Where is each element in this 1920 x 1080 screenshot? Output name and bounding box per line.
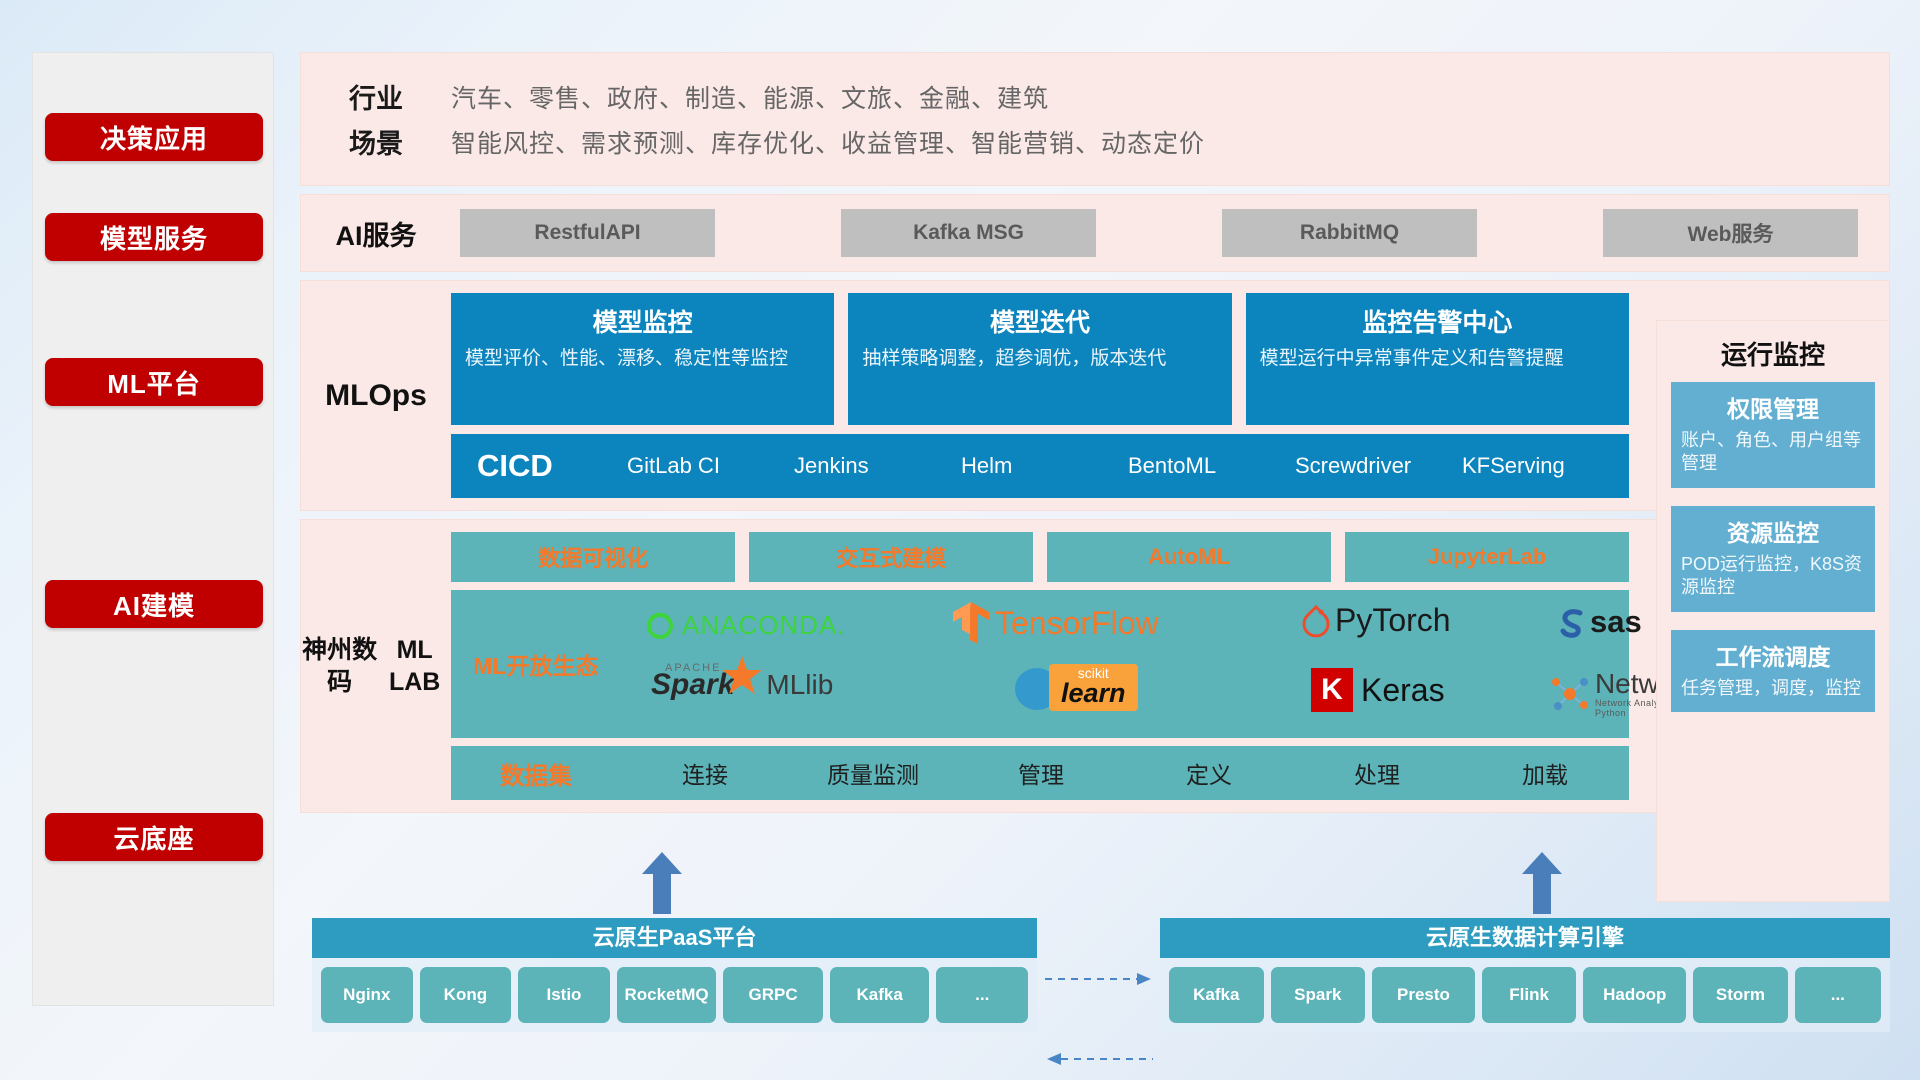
paas-platform-box: 云原生PaaS平台 Nginx Kong Istio RocketMQ GRPC… — [312, 918, 1037, 1032]
sas-logo: sas — [1556, 604, 1642, 640]
tool-automl[interactable]: AutoML — [1047, 532, 1331, 582]
dataset-items: 连接 质量监测 管理 定义 处理 加载 — [621, 756, 1629, 790]
spark-mllib-logo: APACHE Spark MLlib — [651, 668, 833, 702]
mlops-card-alert-center[interactable]: 监控告警中心 模型运行中异常事件定义和告警提醒 — [1246, 293, 1629, 425]
keras-logo: K Keras — [1311, 668, 1445, 712]
cicd-item-bentoml[interactable]: BentoML — [1128, 455, 1295, 477]
dataset-item-process[interactable]: 处理 — [1293, 756, 1461, 790]
card-desc: 模型评价、性能、漂移、稳定性等监控 — [465, 346, 820, 371]
rail-label: 云底座 — [113, 819, 194, 856]
dashed-arrow-right-icon — [1045, 972, 1153, 986]
mlops-label: MLOps — [301, 293, 451, 498]
engine-chips: Kafka Spark Presto Flink Hadoop Storm ..… — [1160, 958, 1890, 1032]
dataset-label: 数据集 — [451, 756, 621, 791]
monitor-card-desc: 任务管理，调度，监控 — [1681, 677, 1865, 700]
engine-chip-hadoop[interactable]: Hadoop — [1583, 967, 1686, 1023]
paas-chips: Nginx Kong Istio RocketMQ GRPC Kafka ... — [312, 958, 1037, 1032]
paas-chip-more[interactable]: ... — [936, 967, 1028, 1023]
arrow-up-engine-icon — [1520, 852, 1564, 914]
mlops-card-model-iteration[interactable]: 模型迭代 抽样策略调整，超参调优，版本迭代 — [848, 293, 1231, 425]
engine-chip-more[interactable]: ... — [1795, 967, 1881, 1023]
industry-key: 行业 — [301, 77, 451, 116]
mlops-band: MLOps 模型监控 模型评价、性能、漂移、稳定性等监控 模型迭代 抽样策略调整… — [300, 280, 1890, 511]
card-desc: 模型运行中异常事件定义和告警提醒 — [1260, 346, 1615, 371]
dataset-item-connect[interactable]: 连接 — [621, 756, 789, 790]
rail-item-ai-modeling[interactable]: AI建模 — [45, 580, 263, 628]
runtime-monitor-panel: 运行监控 权限管理 账户、角色、用户组等管理 资源监控 POD运行监控，K8S资… — [1656, 320, 1890, 902]
rail-item-cloud-base[interactable]: 云底座 — [45, 813, 263, 861]
paas-chip-grpc[interactable]: GRPC — [723, 967, 823, 1023]
rail-label: 决策应用 — [100, 119, 208, 156]
cloud-foundation-row: 云原生PaaS平台 Nginx Kong Istio RocketMQ GRPC… — [300, 900, 1890, 1020]
mlops-body: 模型监控 模型评价、性能、漂移、稳定性等监控 模型迭代 抽样策略调整，超参调优，… — [451, 293, 1643, 498]
monitor-card-title: 权限管理 — [1681, 390, 1865, 424]
cicd-item-helm[interactable]: Helm — [961, 455, 1128, 477]
ml-lab-label: 神州数码 ML LAB — [301, 532, 451, 800]
scikit-learn-logo: scikit learn — [1011, 662, 1138, 712]
cicd-item-jenkins[interactable]: Jenkins — [794, 455, 961, 477]
arrow-up-paas-icon — [640, 852, 684, 914]
paas-chip-rocketmq[interactable]: RocketMQ — [617, 967, 717, 1023]
dataset-item-define[interactable]: 定义 — [1125, 756, 1293, 790]
keras-text: Keras — [1361, 672, 1445, 709]
sas-icon — [1556, 606, 1588, 638]
dataset-item-manage[interactable]: 管理 — [957, 756, 1125, 790]
monitor-card-desc: POD运行监控，K8S资源监控 — [1681, 553, 1865, 600]
ml-lab-band: 神州数码 ML LAB 数据可视化 交互式建模 AutoML JupyterLa… — [300, 519, 1890, 813]
card-title: 监控告警中心 — [1260, 303, 1615, 339]
rail-label: AI建模 — [113, 586, 195, 623]
rail-label: ML平台 — [107, 364, 201, 401]
scenario-value: 智能风控、需求预测、库存优化、收益管理、智能营销、动态定价 — [451, 124, 1205, 160]
monitor-card-title: 资源监控 — [1681, 514, 1865, 548]
ml-lab-tools: 数据可视化 交互式建模 AutoML JupyterLab — [451, 532, 1629, 582]
mllib-text: MLlib — [766, 669, 833, 701]
engine-title: 云原生数据计算引擎 — [1160, 918, 1890, 958]
cicd-label: CICD — [477, 448, 627, 484]
anaconda-icon — [643, 608, 677, 642]
cicd-item-gitlab-ci[interactable]: GitLab CI — [627, 455, 794, 477]
card-title: 模型监控 — [465, 303, 820, 339]
pytorch-text: PyTorch — [1335, 602, 1451, 639]
scenario-row: 场景 智能风控、需求预测、库存优化、收益管理、智能营销、动态定价 — [301, 122, 1889, 161]
learn-text: learn — [1061, 680, 1126, 707]
spark-apache-text: APACHE — [665, 662, 721, 674]
engine-chip-flink[interactable]: Flink — [1482, 967, 1577, 1023]
ml-open-ecosystem: ML开放生态 ANACONDA. — [451, 590, 1629, 738]
monitor-card-desc: 账户、角色、用户组等管理 — [1681, 429, 1865, 476]
paas-chip-kong[interactable]: Kong — [420, 967, 512, 1023]
service-restful-api[interactable]: RestfulAPI — [460, 209, 715, 257]
ml-lab-label-line1: 神州数码 — [301, 634, 378, 699]
paas-chip-nginx[interactable]: Nginx — [321, 967, 413, 1023]
architecture-diagram: 决策应用 模型服务 ML平台 AI建模 云底座 行业 汽车、零售、政府、制造、能… — [0, 0, 1920, 1080]
scenario-key: 场景 — [301, 122, 451, 161]
rail-label: 模型服务 — [100, 219, 208, 256]
paas-chip-kafka[interactable]: Kafka — [830, 967, 930, 1023]
card-title: 模型迭代 — [862, 303, 1217, 339]
networkx-icon — [1546, 672, 1592, 716]
card-desc: 抽样策略调整，超参调优，版本迭代 — [862, 346, 1217, 371]
tensorflow-icon — [951, 600, 991, 646]
service-kafka-msg[interactable]: Kafka MSG — [841, 209, 1096, 257]
monitor-title: 运行监控 — [1657, 321, 1889, 382]
anaconda-text: ANACONDA. — [682, 610, 846, 641]
ai-service-band: AI服务 RestfulAPI Kafka MSG RabbitMQ Web服务 — [300, 194, 1890, 272]
ai-service-buttons: RestfulAPI Kafka MSG RabbitMQ Web服务 — [451, 209, 1889, 257]
tool-data-visualization[interactable]: 数据可视化 — [451, 532, 735, 582]
ml-lab-body: 数据可视化 交互式建模 AutoML JupyterLab ML开放生态 — [451, 532, 1643, 800]
monitor-card-title: 工作流调度 — [1681, 638, 1865, 672]
mlops-cards: 模型监控 模型评价、性能、漂移、稳定性等监控 模型迭代 抽样策略调整，超参调优，… — [451, 293, 1629, 425]
engine-chip-spark[interactable]: Spark — [1271, 967, 1366, 1023]
cicd-row: CICD GitLab CI Jenkins Helm BentoML Scre… — [451, 434, 1629, 498]
tool-jupyterlab[interactable]: JupyterLab — [1345, 532, 1629, 582]
dataset-item-quality[interactable]: 质量监测 — [789, 756, 957, 790]
data-compute-engine-box: 云原生数据计算引擎 Kafka Spark Presto Flink Hadoo… — [1160, 918, 1890, 1032]
dataset-item-load[interactable]: 加载 — [1461, 756, 1629, 790]
monitor-card-resource[interactable]: 资源监控 POD运行监控，K8S资源监控 — [1671, 506, 1875, 612]
main-column: 行业 汽车、零售、政府、制造、能源、文旅、金融、建筑 场景 智能风控、需求预测、… — [300, 52, 1890, 821]
tensorflow-logo: TensorFlow — [951, 600, 1159, 646]
pytorch-icon — [1301, 604, 1331, 638]
tool-interactive-modeling[interactable]: 交互式建模 — [749, 532, 1033, 582]
industry-value: 汽车、零售、政府、制造、能源、文旅、金融、建筑 — [451, 79, 1049, 115]
rail-item-model-service[interactable]: 模型服务 — [45, 213, 263, 261]
cicd-item-screwdriver[interactable]: Screwdriver — [1295, 455, 1462, 477]
paas-chip-istio[interactable]: Istio — [518, 967, 610, 1023]
monitor-card-permission[interactable]: 权限管理 账户、角色、用户组等管理 — [1671, 382, 1875, 488]
spark-star-icon — [720, 654, 764, 698]
service-web[interactable]: Web服务 — [1603, 209, 1858, 257]
monitor-card-workflow[interactable]: 工作流调度 任务管理，调度，监控 — [1671, 630, 1875, 712]
industry-row: 行业 汽车、零售、政府、制造、能源、文旅、金融、建筑 — [301, 77, 1889, 116]
engine-chip-storm[interactable]: Storm — [1693, 967, 1788, 1023]
pytorch-logo: PyTorch — [1301, 602, 1451, 639]
mlops-card-model-monitor[interactable]: 模型监控 模型评价、性能、漂移、稳定性等监控 — [451, 293, 834, 425]
tensorflow-text: TensorFlow — [995, 605, 1159, 642]
industry-scenario-band: 行业 汽车、零售、政府、制造、能源、文旅、金融、建筑 场景 智能风控、需求预测、… — [300, 52, 1890, 186]
eco-label: ML开放生态 — [451, 647, 621, 681]
sas-text: sas — [1590, 604, 1642, 640]
anaconda-logo: ANACONDA. — [643, 608, 846, 642]
service-rabbitmq[interactable]: RabbitMQ — [1222, 209, 1477, 257]
paas-title: 云原生PaaS平台 — [312, 918, 1037, 958]
rail-item-ml-platform[interactable]: ML平台 — [45, 358, 263, 406]
dashed-arrow-left-icon — [1045, 1052, 1153, 1066]
engine-chip-presto[interactable]: Presto — [1372, 967, 1475, 1023]
engine-chip-kafka[interactable]: Kafka — [1169, 967, 1264, 1023]
cicd-items: GitLab CI Jenkins Helm BentoML Screwdriv… — [627, 455, 1629, 477]
rail-item-decision-app[interactable]: 决策应用 — [45, 113, 263, 161]
ai-service-label: AI服务 — [301, 214, 451, 253]
ml-lab-label-line2: ML LAB — [378, 634, 451, 699]
keras-k-icon: K — [1311, 668, 1353, 712]
left-layer-rail: 决策应用 模型服务 ML平台 AI建模 云底座 — [32, 52, 274, 1006]
scikit-learn-badge: scikit learn — [1049, 664, 1138, 711]
eco-logo-area: ANACONDA. TensorFlow — [621, 590, 1629, 738]
dataset-row: 数据集 连接 质量监测 管理 定义 处理 加载 — [451, 746, 1629, 800]
cicd-item-kfserving[interactable]: KFServing — [1462, 455, 1629, 477]
